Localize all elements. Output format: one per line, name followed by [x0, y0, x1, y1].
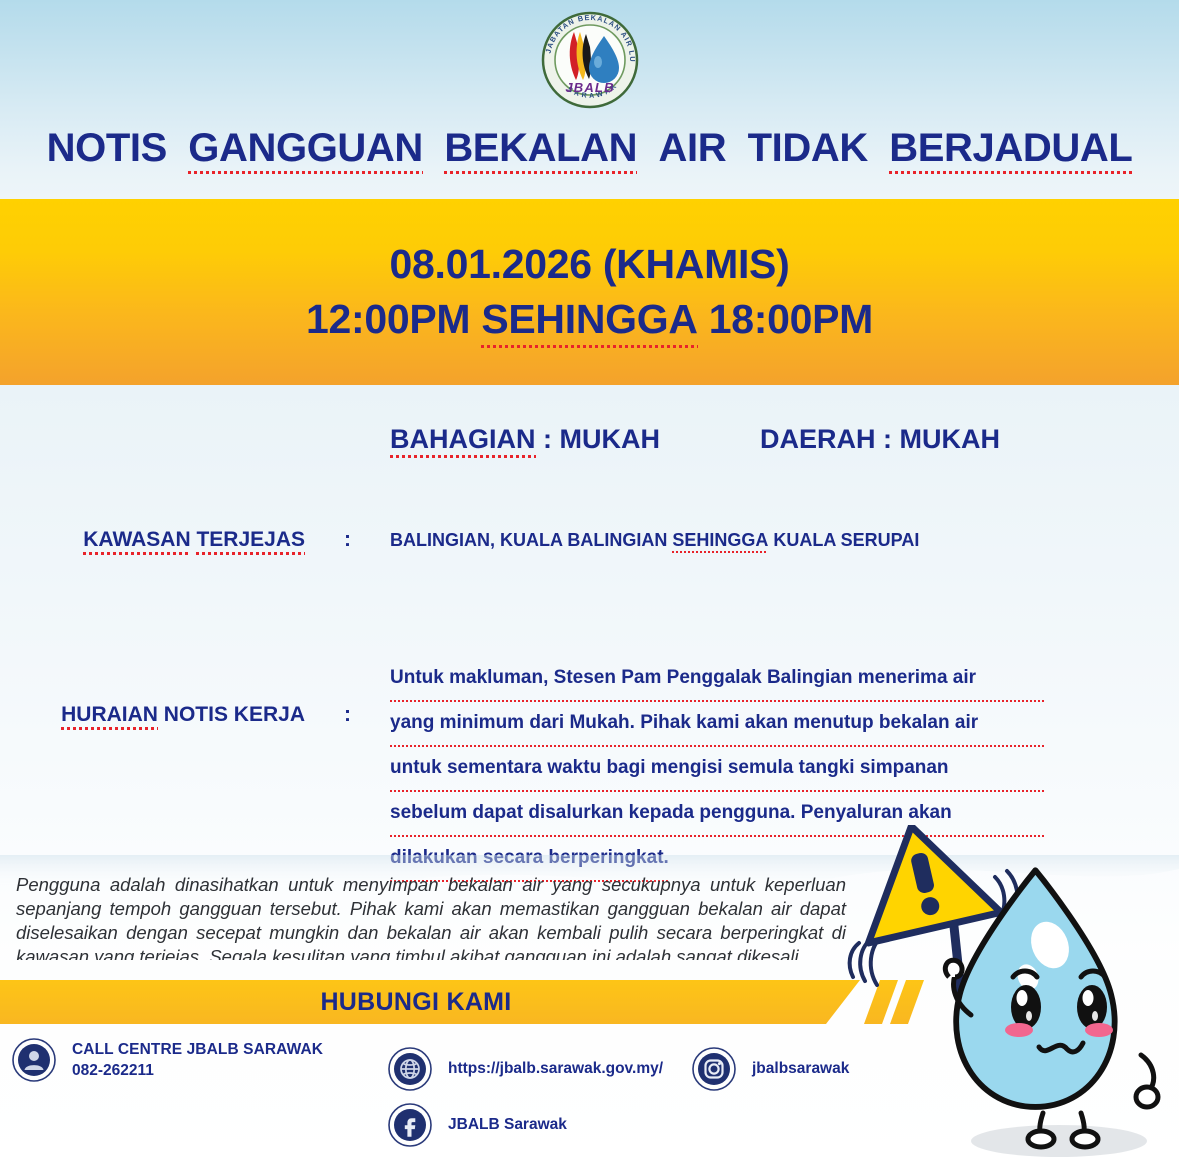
division-value: MUKAH [560, 424, 661, 454]
contact-instagram-handle: jbalbsarawak [752, 1060, 849, 1078]
district-separator: : [876, 424, 900, 454]
work-notice-label-2: NOTIS KERJA [158, 703, 305, 726]
work-notice-line: untuk sementara waktu bagi mengisi semul… [390, 745, 1045, 790]
notice-poster: JABATAN BEKALAN AIR LUAR BANDAR SARAWAK … [0, 0, 1179, 1169]
time-suffix: 18:00PM [698, 296, 873, 342]
work-notice-line: yang minimum dari Mukah. Pihak kami akan… [390, 700, 1045, 745]
affected-area-row: KAWASAN TERJEJAS : BALINGIAN, KUALA BALI… [0, 528, 1179, 552]
person-icon [12, 1038, 56, 1082]
title-word: GANGGUAN [188, 126, 423, 171]
division-row: BAHAGIAN : MUKAH DAERAH : MUKAH [0, 424, 1179, 455]
svg-text:JBALB: JBALB [565, 80, 614, 95]
logo-container: JABATAN BEKALAN AIR LUAR BANDAR SARAWAK … [0, 10, 1179, 110]
contact-facebook-text: JBALB Sarawak [448, 1116, 567, 1134]
time-sehingga: SEHINGGA [481, 294, 697, 345]
contact-facebook[interactable]: JBALB Sarawak [388, 1103, 567, 1147]
affected-area-value-1: BALINGIAN, KUALA BALINGIAN [390, 530, 672, 550]
work-notice-label: HURAIAN NOTIS KERJA [0, 655, 305, 727]
district-field: DAERAH : MUKAH [660, 424, 1179, 455]
affected-area-label-1: KAWASAN [83, 528, 190, 552]
district-value: MUKAH [900, 424, 1001, 454]
division-label: BAHAGIAN [390, 424, 536, 455]
affected-area-colon: : [305, 528, 390, 552]
time-prefix: 12:00PM [306, 296, 481, 342]
title-word: BERJADUAL [889, 126, 1132, 171]
facebook-icon [388, 1103, 432, 1147]
title-word: AIR [659, 126, 727, 171]
contact-instagram-text: jbalbsarawak [752, 1060, 849, 1078]
district-label: DAERAH [760, 424, 876, 454]
affected-area-value: BALINGIAN, KUALA BALINGIAN SEHINGGA KUAL… [390, 528, 1179, 551]
affected-area-value-3: KUALA SERUPAI [768, 530, 919, 550]
page-title: NOTIS GANGGUAN BEKALAN AIR TIDAK BERJADU… [0, 126, 1179, 171]
disclaimer-text: Pengguna adalah dinasihatkan untuk menyi… [16, 873, 846, 969]
notice-time: 12:00PM SEHINGGA 18:00PM [306, 294, 873, 345]
contact-website-text: https://jbalb.sarawak.gov.my/ [448, 1060, 663, 1078]
contact-banner-label: HUBUNGI KAMI [320, 988, 511, 1017]
globe-icon [388, 1047, 432, 1091]
water-droplet-mascot [845, 825, 1179, 1169]
contact-website-url: https://jbalb.sarawak.gov.my/ [448, 1060, 663, 1078]
contact-call-centre-text: CALL CENTRE JBALB SARAWAK 082-262211 [72, 1039, 323, 1081]
title-word: TIDAK [748, 126, 868, 171]
contact-call-centre-title: CALL CENTRE JBALB SARAWAK [72, 1039, 323, 1060]
work-notice-line: Untuk makluman, Stesen Pam Penggalak Bal… [390, 655, 1045, 700]
contact-facebook-name: JBALB Sarawak [448, 1116, 567, 1134]
title-word: BEKALAN [444, 126, 637, 171]
division-field: BAHAGIAN : MUKAH [0, 424, 660, 455]
division-separator: : [536, 424, 560, 454]
contact-banner: HUBUNGI KAMI [0, 980, 860, 1024]
instagram-icon [692, 1047, 736, 1091]
work-notice-colon: : [305, 655, 390, 727]
contact-call-centre-number: 082-262211 [72, 1060, 323, 1081]
affected-area-label: KAWASAN TERJEJAS [0, 528, 305, 552]
notice-date: 08.01.2026 (KHAMIS) [390, 239, 790, 290]
contact-instagram[interactable]: jbalbsarawak [692, 1047, 849, 1091]
work-notice-label-1: HURAIAN [61, 703, 158, 727]
date-time-banner: 08.01.2026 (KHAMIS) 12:00PM SEHINGGA 18:… [0, 199, 1179, 385]
contact-website[interactable]: https://jbalb.sarawak.gov.my/ [388, 1047, 663, 1091]
affected-area-value-2: SEHINGGA [672, 530, 768, 551]
jbalb-logo-icon: JABATAN BEKALAN AIR LUAR BANDAR SARAWAK … [534, 10, 646, 110]
contact-call-centre[interactable]: CALL CENTRE JBALB SARAWAK 082-262211 [12, 1038, 323, 1082]
title-word: NOTIS [47, 126, 167, 171]
affected-area-label-2: TERJEJAS [196, 528, 305, 552]
